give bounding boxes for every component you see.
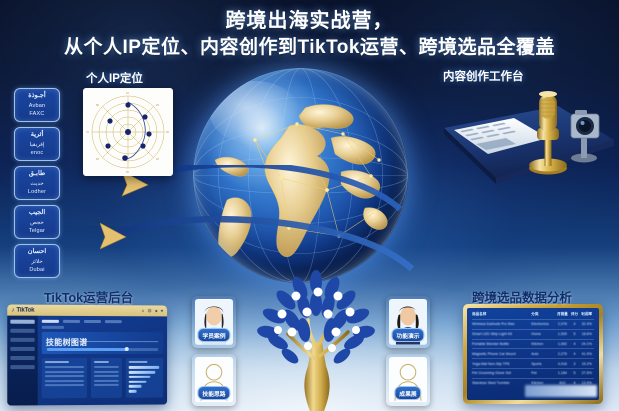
svg-text:40: 40: [156, 157, 159, 161]
breadcrumb: [42, 326, 64, 328]
portrait-card-inner: 技能思路: [195, 357, 233, 403]
badge-line-3: Lodher: [28, 188, 46, 197]
badge-line-2: حديث: [30, 180, 43, 189]
tab-works[interactable]: [84, 320, 101, 323]
cell-rating: 3: [570, 359, 580, 369]
section-label-ip-positioning: 个人IP定位: [86, 70, 143, 86]
badge-line-3: Telgar: [29, 227, 45, 236]
hbar: [129, 385, 142, 388]
tiktok-panel-body: 技能树图谱: [7, 316, 167, 406]
tiktok-backstage-panel[interactable]: ♪ TikTok ⌕ ⚙ ● ▾: [7, 304, 167, 405]
card-row: [45, 380, 84, 382]
cell-category: Electronics: [531, 320, 555, 330]
knowledge-tree-illustration: [252, 270, 382, 411]
section-label-data-analysis: 跨境选品数据分析: [472, 287, 572, 306]
cell-category: Auto: [531, 349, 555, 359]
table-row: Smart LED Strip Light Kit Home 1,530 5 1…: [472, 329, 594, 339]
tiktok-hero-banner: 技能树图谱: [42, 331, 163, 353]
tiktok-topbar-actions[interactable]: ⌕ ⚙ ● ▾: [142, 308, 163, 314]
title-block: 跨境出海实战营， 从个人IP定位、内容创作到TikTok运营、跨境选品全覆盖: [0, 8, 619, 62]
chevron-down-icon[interactable]: ▾: [161, 308, 163, 314]
cell-margin: 32.4%: [579, 320, 594, 330]
badge-item: أجـوذة Avban FAXC: [14, 88, 60, 122]
cell-rating: 4: [570, 349, 580, 359]
cell-margin: 18.6%: [579, 329, 594, 339]
sidebar-item-creator[interactable]: [10, 347, 34, 351]
svg-text:30: 30: [166, 130, 169, 134]
portrait-card-inner: 成果展: [389, 357, 427, 403]
cell-margin: 15.2%: [579, 359, 594, 369]
tiktok-main-content: 技能树图谱: [38, 316, 167, 406]
badge-line-2: حلائز: [31, 258, 42, 267]
data-panel-screen: 商品名称 分类 月销量 评分 利润率 Wireless Earbuds Pro …: [467, 308, 599, 400]
cell-product: Portable Blender Bottle: [472, 339, 531, 349]
search-icon[interactable]: ⌕: [142, 308, 145, 314]
table-row: Yoga Mat Non-Slip TPE Sports 4,018 3 15.…: [472, 359, 594, 369]
cell-margin: 24.1%: [579, 339, 594, 349]
left-badge-column: أجـوذة Avban FAXC أثرية إفريقيا enoc طاب…: [14, 88, 62, 283]
card-row: [94, 366, 119, 368]
hbar: [129, 390, 137, 393]
portrait-card-tag: 功能演示: [391, 328, 424, 342]
badge-line-1: أثرية: [31, 130, 44, 140]
table-body: Wireless Earbuds Pro Max Electronics 2,0…: [472, 320, 594, 388]
card-row: [94, 375, 119, 377]
content-studio-illustration: [432, 84, 618, 190]
radar-data-points: [105, 102, 151, 160]
cell-product: Wireless Earbuds Pro Max: [472, 320, 531, 330]
card-heading: [129, 361, 148, 364]
badge-item: احسان حلائز Dubai: [14, 244, 60, 278]
sidebar-item-help[interactable]: [10, 365, 34, 369]
badge-line-3: enoc: [31, 149, 44, 158]
badge-line-3: Dubai: [29, 266, 44, 275]
poster-canvas: 跨境出海实战营， 从个人IP定位、内容创作到TikTok运营、跨境选品全覆盖 个…: [0, 0, 619, 411]
card-row: [94, 380, 119, 382]
portrait-card-tag: 成果展: [394, 386, 421, 400]
radar-chart-svg: 1020 3040 5060 7080: [83, 88, 173, 176]
cell-rating: 4: [570, 320, 580, 330]
portrait-card-inner: 学员案例: [195, 299, 233, 345]
cell-product: Magnetic Phone Car Mount: [472, 349, 531, 359]
ip-positioning-radar-card: 1020 3040 5060 7080: [83, 88, 173, 176]
progress-handle[interactable]: [125, 347, 129, 351]
tiktok-sidebar[interactable]: [7, 316, 37, 406]
portrait-card-inner: 功能演示: [389, 299, 427, 345]
column-header-sales: 月销量: [555, 312, 570, 320]
cell-rating: 4: [570, 339, 580, 349]
tiktok-card-tasks[interactable]: [42, 358, 87, 399]
column-header-rating: 评分: [570, 312, 580, 320]
hbar: [129, 380, 147, 383]
cell-category: Sports: [531, 359, 555, 369]
portrait-card-tag: 技能思路: [197, 386, 230, 400]
hbar: [129, 376, 151, 379]
badge-line-1: أجـوذة: [28, 91, 45, 101]
badge-line-2: إفريقيا: [30, 141, 45, 150]
svg-text:80: 80: [96, 103, 99, 107]
sidebar-item-content[interactable]: [10, 329, 34, 333]
poster-title-line-2: 从个人IP定位、内容创作到TikTok运营、跨境选品全覆盖: [0, 35, 619, 62]
cell-rating: 5: [570, 368, 580, 378]
cell-product: Yoga Mat Non-Slip TPE: [472, 359, 531, 369]
badge-line-1: طابـق: [29, 169, 45, 179]
cell-category: Kitchen: [531, 339, 555, 349]
badge-line-2: حجص: [30, 219, 44, 228]
svg-text:10: 10: [126, 91, 129, 95]
badge-line-2: Avban: [29, 102, 46, 111]
sidebar-item-settings[interactable]: [10, 356, 34, 360]
card-heading: [45, 361, 69, 364]
music-note-icon: ♪: [11, 307, 14, 313]
tab-revenue[interactable]: [105, 320, 122, 323]
hero-divider: [84, 341, 158, 342]
tiktok-logo: ♪ TikTok: [11, 307, 34, 313]
poster-title-line-1: 跨境出海实战营，: [0, 8, 619, 35]
hero-title: 技能树图谱: [46, 337, 88, 348]
card-row: [45, 384, 84, 386]
progress-fill: [47, 348, 128, 350]
cell-sales: 2,078: [555, 320, 570, 330]
badge-item: طابـق حديث Lodher: [14, 166, 60, 200]
cell-product: Smart LED Strip Light Kit: [472, 329, 531, 339]
sidebar-item-overview[interactable]: [10, 320, 34, 324]
card-row: [45, 366, 84, 368]
card-row: [94, 371, 119, 373]
cell-sales: 4,018: [555, 359, 570, 369]
portrait-card-skill-outline[interactable]: 技能思路: [192, 354, 236, 406]
tiktok-card-ability-chart[interactable]: [126, 358, 163, 398]
table-highlight-overlay: [525, 385, 597, 397]
svg-text:60: 60: [96, 157, 99, 161]
cell-sales: 1,530: [555, 329, 570, 339]
tiktok-tab-bar[interactable]: [42, 320, 163, 324]
cell-sales: 2,275: [555, 349, 570, 359]
progress-slider[interactable]: [47, 348, 158, 350]
table-header-row: 商品名称 分类 月销量 评分 利润率: [472, 312, 594, 320]
cell-product: Stainless Steel Tumbler: [472, 378, 531, 387]
card-heading: [94, 361, 109, 364]
portrait-card-feature-demo[interactable]: 功能演示: [386, 296, 430, 348]
column-header-product: 商品名称: [472, 312, 531, 320]
hbar: [129, 366, 159, 369]
section-label-tiktok-backstage: TikTok运营后台: [44, 287, 133, 306]
table-row: Wireless Earbuds Pro Max Electronics 2,0…: [472, 320, 594, 330]
gear-icon[interactable]: ⚙: [147, 308, 151, 314]
cell-product: Pet Grooming Glove Set: [472, 368, 531, 378]
badge-line-3: FAXC: [29, 110, 44, 119]
section-label-content-studio: 内容创作工作台: [443, 68, 524, 84]
portrait-card-results[interactable]: 成果展: [386, 354, 430, 406]
tiktok-card-completion[interactable]: [91, 358, 122, 398]
svg-text:20: 20: [156, 103, 159, 107]
badge-item: الجيب حجص Telgar: [14, 205, 60, 239]
card-row: [45, 371, 84, 373]
badge-item: أثرية إفريقيا enoc: [14, 127, 60, 161]
column-header-category: 分类: [531, 312, 555, 320]
portrait-card-tag: 学员案例: [197, 328, 230, 342]
column-header-margin: 利润率: [579, 312, 594, 320]
tiktok-brand-label: TikTok: [16, 307, 34, 313]
cell-margin: 27.5%: [579, 368, 594, 378]
badge-line-1: الجيب: [29, 208, 45, 218]
tiktok-card-row: [42, 358, 163, 399]
cell-category: Pet: [531, 368, 555, 378]
table-row: Magnetic Phone Car Mount Auto 2,275 4 41…: [472, 349, 594, 359]
cell-category: Home: [531, 329, 555, 339]
cross-border-data-panel[interactable]: 商品名称 分类 月销量 评分 利润率 Wireless Earbuds Pro …: [463, 304, 603, 404]
cell-sales: 1,184: [555, 368, 570, 378]
card-row: [45, 375, 84, 377]
tab-dashboard[interactable]: [63, 320, 80, 323]
svg-text:50: 50: [126, 170, 129, 174]
svg-text:70: 70: [86, 130, 89, 134]
cell-rating: 5: [570, 329, 580, 339]
avatar[interactable]: ●: [155, 308, 158, 314]
badge-line-1: احسان: [28, 247, 46, 257]
cell-margin: 41.9%: [579, 349, 594, 359]
hbar: [129, 371, 155, 374]
tiktok-panel-topbar: ♪ TikTok ⌕ ⚙ ● ▾: [7, 304, 167, 316]
sidebar-item-analytics[interactable]: [10, 338, 34, 342]
table-row: Portable Blender Bottle Kitchen 1,062 4 …: [472, 339, 594, 349]
card-row: [94, 384, 119, 386]
table-row: Pet Grooming Glove Set Pet 1,184 5 27.5%: [472, 368, 594, 378]
cell-sales: 1,062: [555, 339, 570, 349]
product-data-table: 商品名称 分类 月销量 评分 利润率 Wireless Earbuds Pro …: [472, 312, 594, 387]
portrait-card-student-case[interactable]: 学员案例: [192, 296, 236, 348]
tab-workbench[interactable]: [42, 320, 59, 323]
